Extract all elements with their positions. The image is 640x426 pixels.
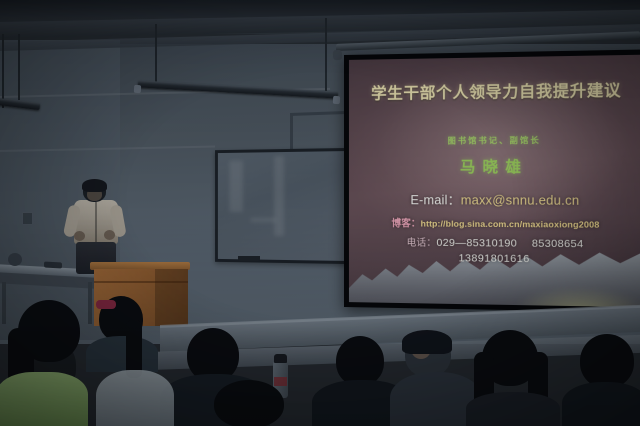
slide-email-line: E-mail：maxx@snnu.edu.cn: [410, 189, 579, 209]
audience-hair-clip: [96, 300, 116, 309]
audience-head: [214, 380, 284, 426]
podium-groove: [94, 281, 188, 283]
slide-title: 学生干部个人领导力自我提升建议: [371, 78, 621, 104]
presenter-hand: [74, 231, 85, 241]
presenter-shirt-placket: [95, 202, 97, 242]
presenter-hair: [82, 179, 107, 192]
fluorescent-end-cap: [333, 96, 340, 104]
presenter-hand: [104, 230, 115, 240]
desk-object: [44, 262, 62, 269]
audience-head: [336, 336, 384, 386]
slide-content: 学生干部个人领导力自我提升建议 图书馆书记、副馆长 马晓雄 E-mail：max…: [349, 55, 640, 308]
desk-object: [8, 253, 22, 266]
wall-switch[interactable]: [22, 212, 33, 225]
projection-screen[interactable]: 学生干部个人领导力自我提升建议 图书馆书记、副馆长 马晓雄 E-mail：max…: [344, 49, 640, 312]
water-bottle-cap: [274, 354, 287, 363]
projection-screen-rail-end: [333, 50, 343, 60]
audience-shoulders: [86, 336, 158, 372]
slide-mobile-number: 13891801616: [459, 252, 530, 265]
audience-shoulders: [466, 392, 560, 426]
email-label: E-mail：: [410, 193, 460, 207]
whiteboard-marker-tray: [238, 256, 260, 261]
whiteboard-glare: [274, 156, 284, 236]
side-desk-leg: [2, 282, 6, 324]
podium-shadow: [155, 269, 188, 326]
telephone-number-primary: 029—85310190: [436, 237, 517, 250]
slide-presenter-name: 马晓雄: [460, 155, 528, 177]
email-address: maxx@snnu.edu.cn: [461, 193, 580, 208]
telephone-label: 电话：: [407, 238, 437, 249]
slide-blog-line: 博客：http://blog.sina.com.cn/maxiaoxiong20…: [392, 215, 600, 231]
audience-head: [580, 334, 634, 388]
fluorescent-end-cap: [134, 85, 141, 93]
side-desk-leg: [88, 282, 92, 324]
light-suspension-rod: [325, 18, 327, 92]
blog-label: 博客：: [392, 218, 421, 229]
whiteboard-glare: [229, 161, 242, 212]
whiteboard: [215, 148, 360, 264]
light-suspension-rod: [155, 24, 157, 88]
presentation-slide: 学生干部个人领导力自我提升建议 图书馆书记、副馆长 马晓雄 E-mail：max…: [349, 55, 640, 308]
audience-light-shirt: [96, 370, 174, 426]
slide-telephone-line: 电话：029—8531019085308654: [407, 234, 584, 250]
audience-shoulders: [562, 382, 640, 426]
blog-url: http://blog.sina.com.cn/maxiaoxiong2008: [421, 218, 600, 229]
slide-presenter-role: 图书馆书记、副馆长: [448, 135, 541, 147]
light-suspension-rod: [2, 34, 4, 108]
audience-hair: [402, 330, 452, 354]
water-bottle-label: [274, 377, 287, 386]
telephone-number-secondary: 85308654: [532, 238, 584, 251]
lecture-hall-scene: 学生干部个人领导力自我提升建议 图书馆书记、副馆长 马晓雄 E-mail：max…: [0, 0, 640, 426]
whiteboard-glare: [251, 218, 276, 222]
light-suspension-rod: [18, 34, 20, 100]
audience-green-shirt: [0, 372, 88, 426]
